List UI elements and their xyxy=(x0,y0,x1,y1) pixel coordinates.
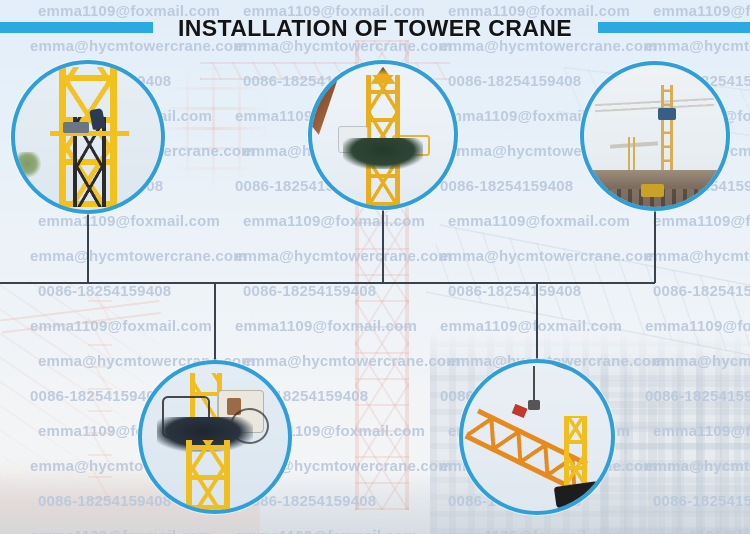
watermark-text: emma@hycmtowercrane.com xyxy=(235,248,440,265)
connector-stub-top-left xyxy=(87,214,89,283)
photo-mast xyxy=(186,440,230,510)
watermark-text: emma1109@foxmail.com xyxy=(653,423,750,440)
watermark-text: emma1109@foxmail.com xyxy=(243,213,448,230)
watermark-text: emma1109@foxmail.com xyxy=(235,318,440,335)
watermark-text: emma1109@foxmail.com xyxy=(653,213,750,230)
photo-slewing-unit xyxy=(343,138,423,169)
page-title: INSTALLATION OF TOWER CRANE xyxy=(0,8,750,48)
background-buildings-far xyxy=(600,350,750,534)
title-banner: INSTALLATION OF TOWER CRANE xyxy=(0,8,750,48)
photo-gearbox xyxy=(63,122,89,132)
photo-node-top-middle xyxy=(308,60,458,210)
watermark-text: emma1109@foxmail.com xyxy=(448,213,653,230)
watermark-text: 0086-18254159408 xyxy=(653,493,750,510)
watermark-text: 0086-18254159408 xyxy=(645,388,750,405)
watermark-text: 0086-18254159408 xyxy=(243,283,448,300)
watermark-text: emma@hycmtowercrane.com xyxy=(645,248,750,265)
photo-hook xyxy=(528,400,540,410)
watermark-text: emma1109@foxmail.com xyxy=(38,213,243,230)
photo-platform xyxy=(50,131,129,136)
photo-machine xyxy=(641,184,664,197)
photo-node-top-left xyxy=(11,60,165,214)
watermark-text: emma1109@foxmail.com xyxy=(645,528,750,534)
connector-stub-bottom-left xyxy=(214,283,216,360)
background-crane-right-jib xyxy=(426,224,750,356)
photo-tree xyxy=(18,152,41,178)
watermark-text: emma1109@foxmail.com xyxy=(440,528,645,534)
photo-node-bottom-left xyxy=(138,360,292,514)
photo-main-cab xyxy=(658,108,676,121)
watermark-text: emma@hycmtowercrane.com xyxy=(645,458,750,475)
background-smudge-top-left xyxy=(160,60,270,190)
installation-diagram-poster: emma1109@foxmail.comemma1109@foxmail.com… xyxy=(0,0,750,534)
watermark-text: emma1109@foxmail.com xyxy=(235,528,440,534)
photo-node-top-right xyxy=(580,61,730,211)
watermark-text: emma@hycmtowercrane.com xyxy=(653,353,750,370)
photo-node-bottom-right xyxy=(459,359,615,515)
photo-hoist-line xyxy=(533,366,535,404)
watermark-text: emma@hycmtowercrane.com xyxy=(30,248,235,265)
